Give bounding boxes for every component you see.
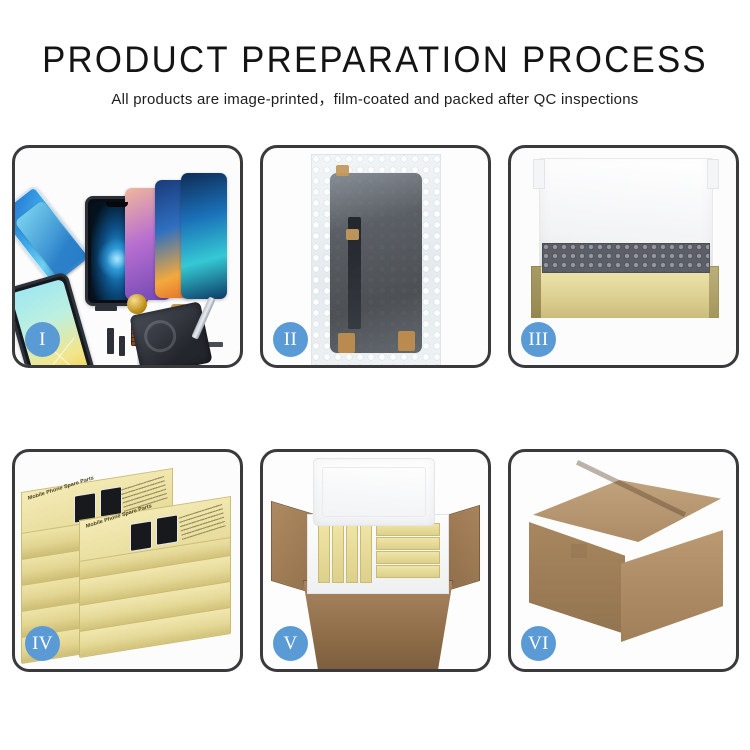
step-badge-2: II — [273, 322, 308, 357]
step-5-illustration: V — [263, 452, 488, 669]
wrapped-screen — [330, 173, 422, 353]
step-1-illustration: I — [15, 148, 240, 365]
page-subtitle: All products are image-printed，film-coat… — [6, 91, 745, 109]
step-panel-4: Mobile Phone Spare Parts Mobile Phone Sp… — [12, 449, 243, 672]
step-3-illustration: III — [511, 148, 736, 365]
packed-box-2 — [332, 523, 344, 583]
packed-box-1 — [318, 523, 330, 583]
tape-middle — [346, 229, 359, 240]
step-badge-1: I — [25, 322, 60, 357]
step-6-illustration: VI — [511, 452, 736, 669]
packed-box-7 — [376, 551, 440, 564]
gray-foam-insert — [542, 243, 710, 273]
step-badge-5: V — [273, 626, 308, 661]
carton-front-face — [529, 522, 625, 634]
box-screen-thumb-4 — [156, 514, 178, 545]
step-badge-6: VI — [521, 626, 556, 661]
packed-box-8 — [376, 565, 440, 578]
step-panel-5: V — [260, 449, 491, 672]
carton-tape-upper — [571, 544, 587, 558]
process-step-grid: I II — [12, 145, 740, 672]
box-corner-left — [531, 266, 541, 318]
tape-top — [336, 165, 349, 176]
page-title: PRODUCT PREPARATION PROCESS — [23, 40, 728, 80]
part-strip-1 — [95, 306, 117, 311]
step-panel-6: VI — [508, 449, 739, 672]
step-4-illustration: Mobile Phone Spare Parts Mobile Phone Sp… — [15, 452, 240, 669]
box-corner-right — [709, 266, 719, 318]
step-panel-2: II — [260, 145, 491, 368]
speaker-part — [127, 294, 147, 314]
step-2-illustration: II — [263, 148, 488, 365]
carton-tape-lower — [569, 608, 585, 622]
part-flex-2 — [119, 336, 125, 356]
phone-notch — [106, 202, 128, 207]
packed-box-4 — [360, 523, 372, 583]
header: PRODUCT PREPARATION PROCESS All products… — [0, 0, 750, 109]
phone-teal — [181, 173, 227, 299]
foam-box-lid — [313, 458, 435, 526]
yellow-inner-box — [531, 266, 719, 318]
connector-right — [398, 331, 415, 351]
step-panel-3: III — [508, 145, 739, 368]
packed-box-6 — [376, 537, 440, 550]
connector-left — [338, 333, 355, 353]
step-panel-1: I — [12, 145, 243, 368]
foam-box-base — [307, 514, 449, 594]
carton-side-face — [621, 530, 723, 642]
box-text-lines-2 — [178, 503, 225, 540]
step-badge-3: III — [521, 322, 556, 357]
step-badge-4: IV — [25, 626, 60, 661]
product-preparation-infographic: PRODUCT PREPARATION PROCESS All products… — [0, 0, 750, 750]
packed-box-3 — [346, 523, 358, 583]
part-flex-1 — [107, 328, 114, 354]
bubble-wrap-bag — [311, 154, 441, 365]
box-screen-thumb-3 — [130, 520, 152, 551]
